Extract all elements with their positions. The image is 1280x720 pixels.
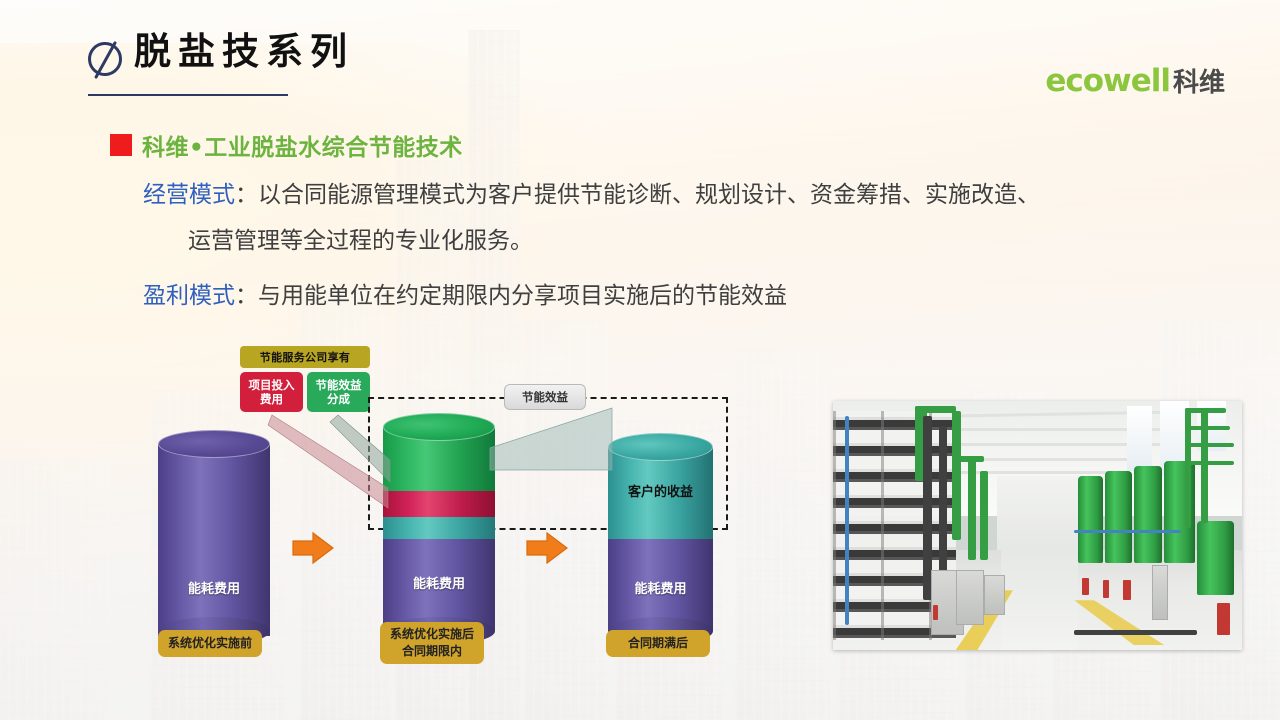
red-square-bullet-icon (110, 134, 132, 156)
business-model-key: 经营模式 (143, 182, 235, 208)
business-model-paragraph-line1: 经营模式：以合同能源管理模式为客户提供节能诊断、规划设计、资金筹措、实施改造、 (143, 184, 1040, 207)
flow-arrow-icon (291, 531, 335, 565)
business-model-text-line1: 以合同能源管理模式为客户提供节能诊断、规划设计、资金筹措、实施改造、 (258, 182, 1040, 208)
energy-benefit-tag: 节能效益 (504, 384, 586, 410)
plant-photo (833, 401, 1242, 650)
profit-model-text: 与用能单位在约定期限内分享项目实施后的节能效益 (258, 283, 787, 309)
flow-arrow-icon (525, 531, 569, 565)
profit-model-paragraph: 盈利模式：与用能单位在约定期限内分享项目实施后的节能效益 (143, 285, 787, 308)
cylinder-segment-label: 客户的收益 (608, 481, 713, 500)
profit-model-separator: ： (235, 283, 258, 309)
section-heading: 科维•工业脱盐水综合节能技术 (110, 128, 463, 162)
business-model-text-line2: 运营管理等全过程的专业化服务。 (188, 228, 533, 254)
cylinder-segment-label: 能耗费用 (158, 578, 270, 597)
business-model-paragraph-line2: 运营管理等全过程的专业化服务。 (188, 230, 533, 253)
slide-root: 脱盐技系列 ecowell 科维 科维•工业脱盐水综合节能技术 经营模式：以合同… (0, 0, 1280, 720)
cylinder-segment-label: 能耗费用 (383, 573, 495, 592)
business-model-separator: ： (235, 182, 258, 208)
emc-diagram: 节能服务公司享有 项目投入 费用 节能效益 分成 节能效益 能耗费用 能耗费用 (0, 330, 820, 680)
cylinder-segment-label: 能耗费用 (608, 578, 713, 597)
page-title: 脱盐技系列 (134, 33, 354, 70)
diagram-connectors (0, 330, 820, 680)
logo-latin-text: ecowell (1045, 63, 1170, 99)
logo-chinese-text: 科维 (1173, 62, 1225, 99)
section-heading-label: 科维•工业脱盐水综合节能技术 (142, 128, 463, 162)
brand-logo: ecowell 科维 (1045, 62, 1225, 99)
profit-model-key: 盈利模式 (143, 283, 235, 309)
title-divider (88, 94, 288, 96)
